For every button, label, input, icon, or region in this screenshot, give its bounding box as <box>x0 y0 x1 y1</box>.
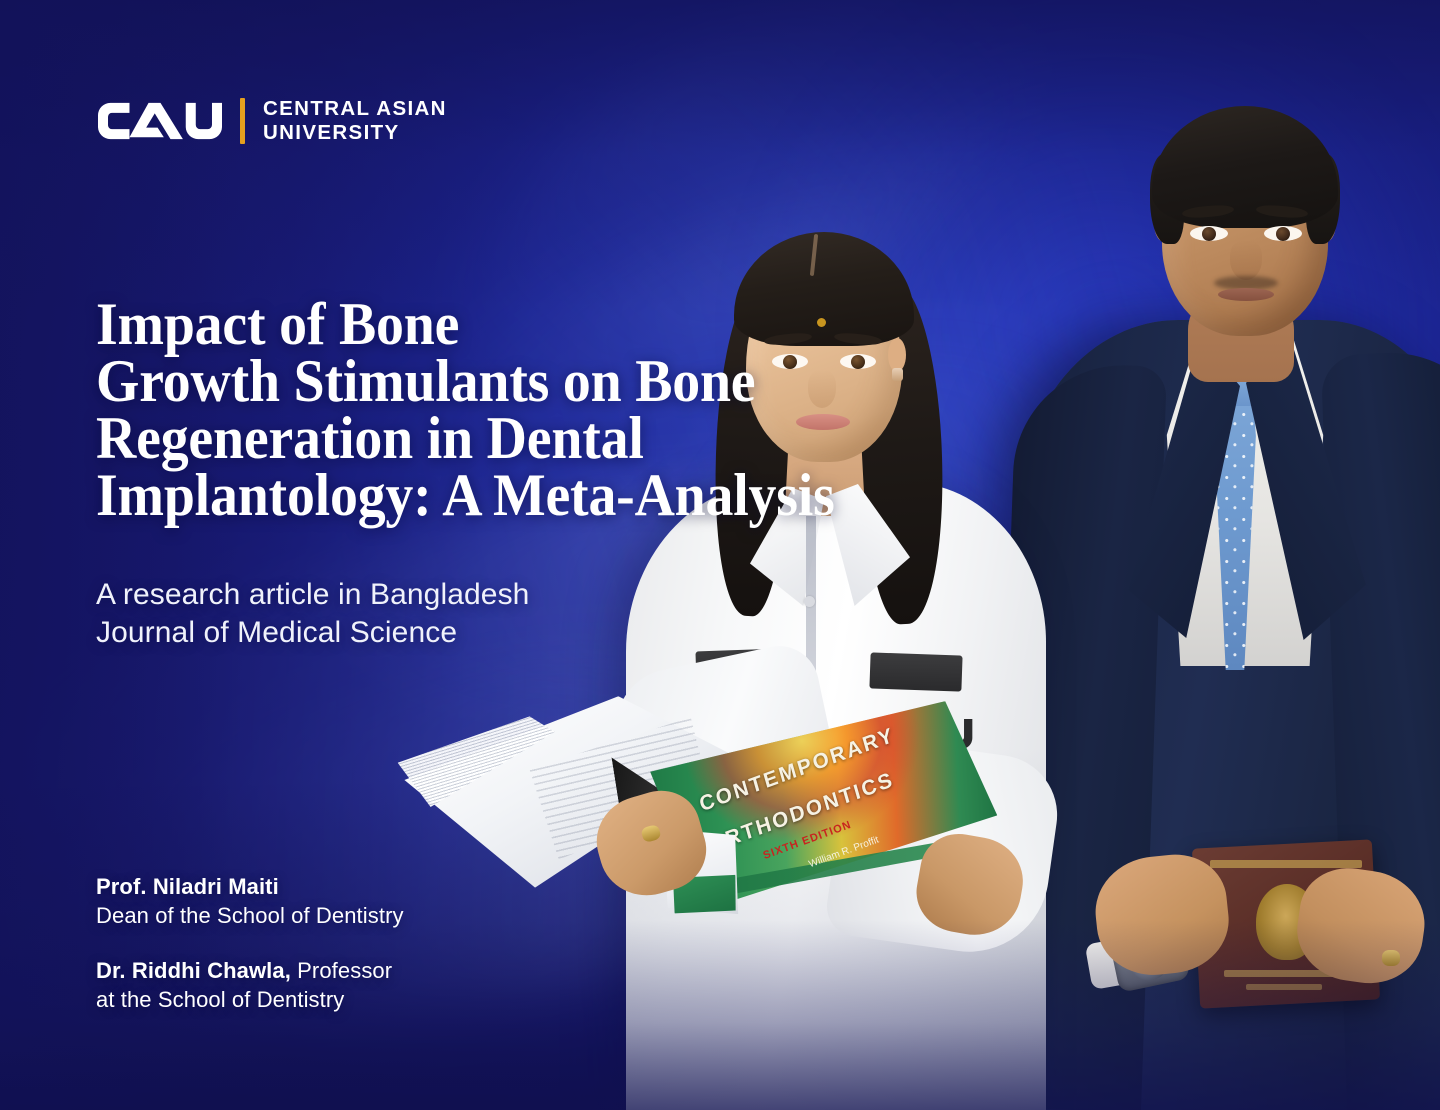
brand-logo-lockup[interactable]: CENTRAL ASIAN UNIVERSITY <box>98 92 447 150</box>
page-subtitle: A research article in Bangladesh Journal… <box>96 576 716 652</box>
title-line-2: Growth Stimulants on Bone <box>96 353 803 410</box>
credit-name-row: Prof. Niladri Maiti <box>96 872 616 901</box>
poster-canvas: CONTEMPORARY ORTHODONTICS SIXTH EDITION … <box>0 0 1440 1110</box>
brand-name-line-2: UNIVERSITY <box>263 122 447 145</box>
title-line-1: Impact of Bone <box>96 296 803 353</box>
credit-role: Dean of the School of Dentistry <box>96 901 616 930</box>
credits-block: Prof. Niladri Maiti Dean of the School o… <box>96 872 616 1014</box>
credit-name-row: Dr. Riddhi Chawla, Professor <box>96 956 616 985</box>
subtitle-line-2: Journal of Medical Science <box>96 614 716 652</box>
title-line-4: Implantology: A Meta-Analysis <box>96 467 803 524</box>
credit-name: Dr. Riddhi Chawla, <box>96 958 291 983</box>
page-title: Impact of Bone Growth Stimulants on Bone… <box>96 296 803 524</box>
credit-name: Prof. Niladri Maiti <box>96 874 279 899</box>
credit-name-suffix: Professor <box>291 958 392 983</box>
credit-item: Prof. Niladri Maiti Dean of the School o… <box>96 872 616 930</box>
subtitle-line-1: A research article in Bangladesh <box>96 576 716 614</box>
brand-name-line-1: CENTRAL ASIAN <box>263 98 447 121</box>
brand-wordmark: CENTRAL ASIAN UNIVERSITY <box>263 98 447 145</box>
title-line-3: Regeneration in Dental <box>96 410 803 467</box>
cau-logomark-icon <box>98 97 222 145</box>
credit-role: at the School of Dentistry <box>96 985 616 1014</box>
credit-item: Dr. Riddhi Chawla, Professor at the Scho… <box>96 956 616 1014</box>
vertical-divider-icon <box>240 98 245 144</box>
